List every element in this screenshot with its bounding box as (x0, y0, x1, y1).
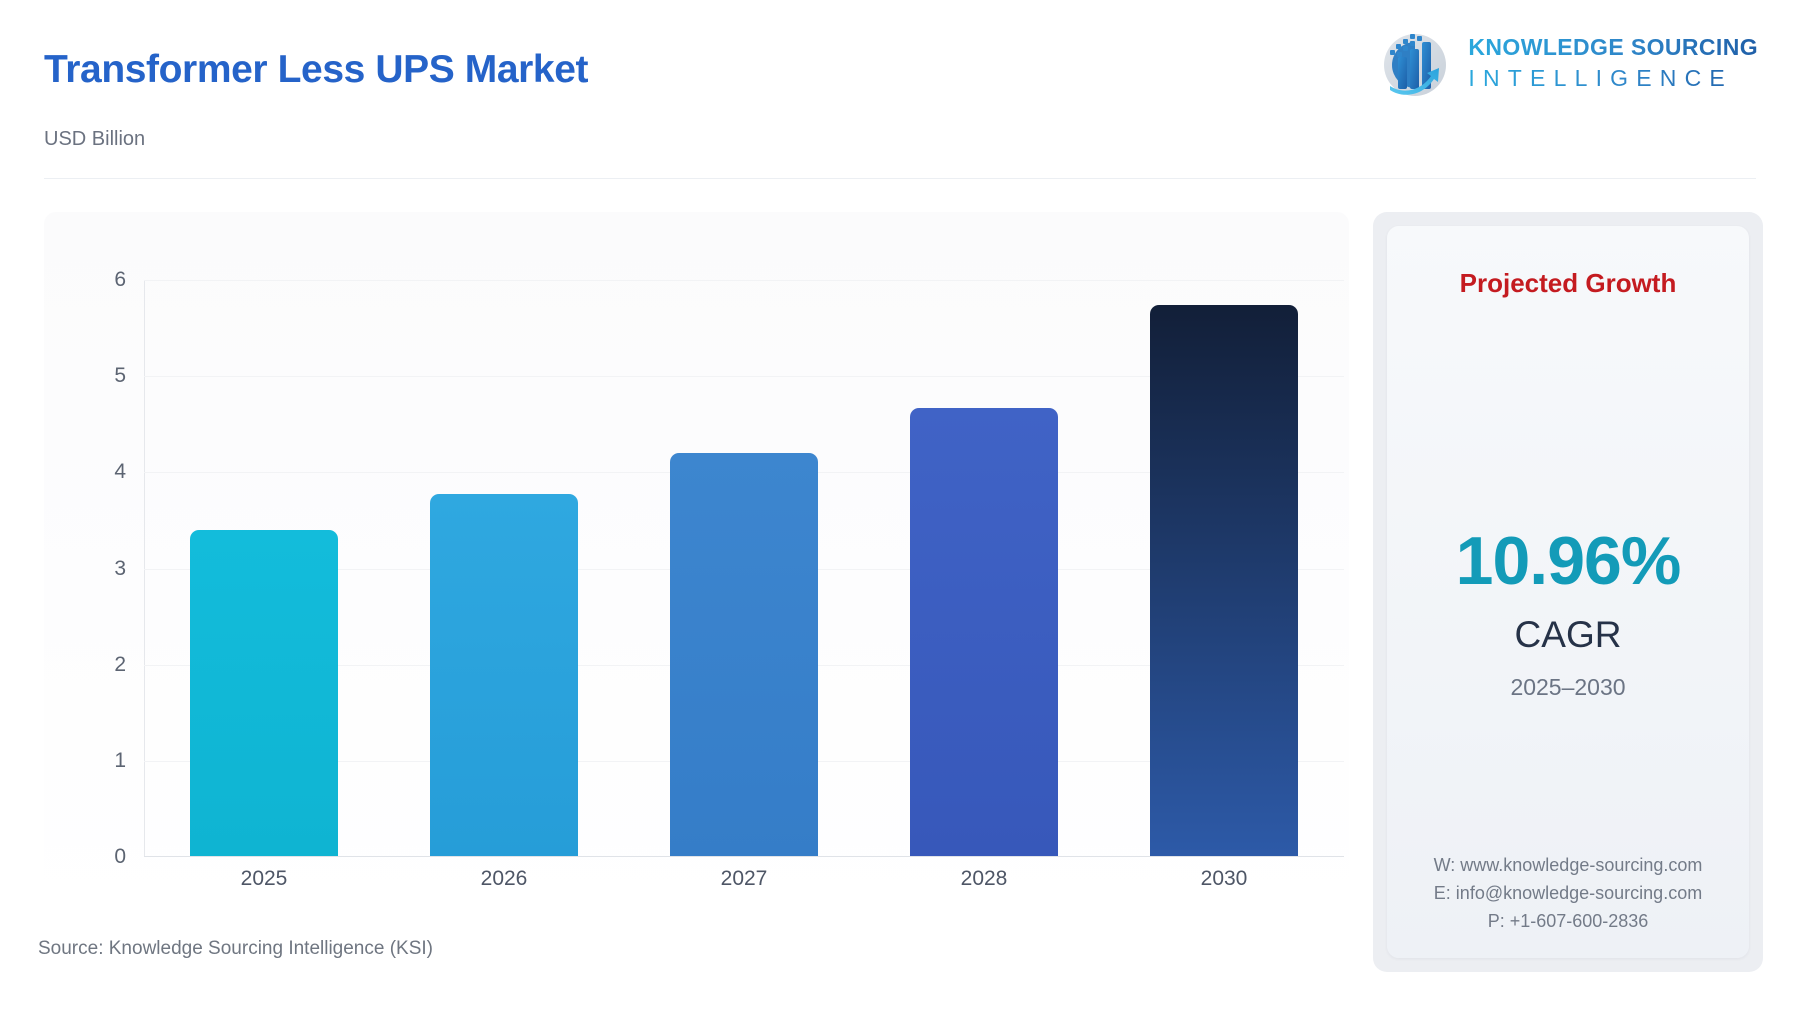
page-title: Transformer Less UPS Market (44, 48, 588, 92)
bar-2025[interactable] (190, 530, 338, 856)
bar-slot (1104, 280, 1344, 856)
source-note: Source: Knowledge Sourcing Intelligence … (38, 938, 433, 960)
x-axis-tick-label-2028: 2028 (864, 867, 1104, 891)
cagr-period: 2025–2030 (1387, 674, 1749, 701)
x-axis-tick-label-2025: 2025 (144, 867, 384, 891)
page-header: Transformer Less UPS Market USD Billion (0, 0, 1800, 182)
bar-slot (864, 280, 1104, 856)
bar-slot (624, 280, 864, 856)
chart-panel: 0123456 20252026202720282030 (44, 212, 1349, 922)
x-axis-line (144, 856, 1344, 857)
bar-2030[interactable] (1150, 305, 1298, 856)
x-axis-tick-label-2027: 2027 (624, 867, 864, 891)
y-axis-tick-label: 2 (66, 653, 126, 677)
brand-logo: KNOWLEDGE SOURCING INTELLIGENCE (1376, 24, 1758, 102)
bar-2027[interactable] (670, 453, 818, 856)
brand-logo-text: KNOWLEDGE SOURCING INTELLIGENCE (1468, 34, 1758, 92)
brand-name-secondary: INTELLIGENCE (1468, 65, 1758, 92)
card-heading: Projected Growth (1387, 268, 1749, 299)
x-axis-tick-label-2030: 2030 (1104, 867, 1344, 891)
contact-email[interactable]: E: info@knowledge-sourcing.com (1387, 880, 1749, 908)
page-subtitle: USD Billion (44, 128, 145, 151)
y-axis-tick-label: 4 (66, 460, 126, 484)
cagr-value: 10.96% (1387, 522, 1749, 600)
contact-website[interactable]: W: www.knowledge-sourcing.com (1387, 852, 1749, 880)
projected-growth-card: Projected Growth 10.96% CAGR 2025–2030 W… (1373, 212, 1763, 972)
y-axis-tick-label: 0 (66, 845, 126, 869)
x-axis-labels: 20252026202720282030 (144, 867, 1344, 891)
header-divider (44, 178, 1756, 179)
bar-2028[interactable] (910, 408, 1058, 856)
brand-name-primary: KNOWLEDGE SOURCING (1468, 34, 1758, 61)
y-axis-tick-label: 1 (66, 749, 126, 773)
contact-block: W: www.knowledge-sourcing.com E: info@kn… (1387, 852, 1749, 936)
plot-area: 0123456 (144, 280, 1344, 857)
knowledge-sourcing-logo-mark-icon (1376, 24, 1454, 102)
contact-phone[interactable]: P: +1-607-600-2836 (1387, 908, 1749, 936)
y-axis-tick-label: 3 (66, 557, 126, 581)
bar-slot (384, 280, 624, 856)
bar-2026[interactable] (430, 494, 578, 856)
projected-growth-card-inner: Projected Growth 10.96% CAGR 2025–2030 W… (1387, 226, 1749, 958)
cagr-label: CAGR (1387, 614, 1749, 656)
x-axis-tick-label-2026: 2026 (384, 867, 624, 891)
y-axis-tick-label: 5 (66, 364, 126, 388)
infographic-page: Transformer Less UPS Market USD Billion (0, 0, 1800, 1012)
bar-series (144, 280, 1344, 856)
bar-slot (144, 280, 384, 856)
y-axis-tick-label: 6 (66, 268, 126, 292)
